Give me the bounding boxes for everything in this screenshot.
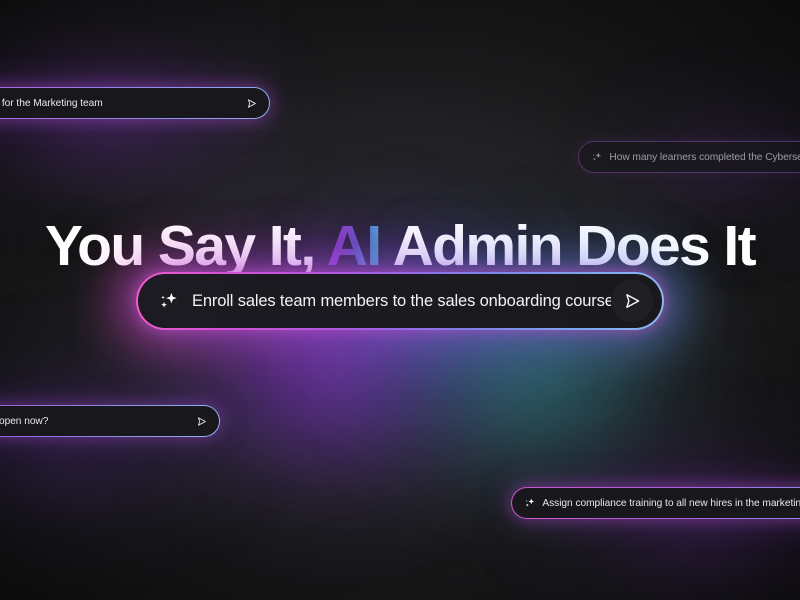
sparkle-icon (158, 290, 180, 312)
send-icon (195, 415, 208, 428)
headline-text-after: Admin Does It (381, 214, 756, 278)
suggestion-pill-reports[interactable]: Generate monthly performance reports for… (0, 87, 270, 119)
sparkle-icon (591, 151, 603, 163)
send-button[interactable] (611, 280, 653, 322)
suggestion-text: Generate monthly performance reports for… (0, 98, 237, 109)
suggestion-text: Assign compliance training to all new hi… (542, 498, 800, 509)
prompt-bar[interactable]: Enroll sales team members to the sales o… (136, 272, 664, 330)
prompt-input[interactable]: Enroll sales team members to the sales o… (192, 292, 611, 311)
page-title: You Say It, AI Admin Does It (0, 214, 800, 278)
suggestion-text: How many support tickets are open now? (0, 416, 187, 427)
headline-text-before: You Say It, (45, 214, 327, 278)
send-button[interactable] (241, 92, 263, 114)
send-icon (621, 290, 643, 312)
send-button[interactable] (191, 410, 213, 432)
suggestion-pill-compliance[interactable]: Assign compliance training to all new hi… (511, 487, 800, 519)
sparkle-icon (524, 497, 536, 509)
suggestion-text: How many learners completed the Cybersec… (609, 152, 800, 163)
send-icon (245, 97, 258, 110)
hero-canvas: You Say It, AI Admin Does It Enroll sale… (0, 0, 800, 600)
suggestion-pill-learners[interactable]: How many learners completed the Cybersec… (578, 141, 800, 173)
prompt-bar-container: Enroll sales team members to the sales o… (136, 272, 664, 330)
headline-accent-ai: AI (327, 214, 381, 278)
suggestion-pill-tickets[interactable]: How many support tickets are open now? (0, 405, 220, 437)
